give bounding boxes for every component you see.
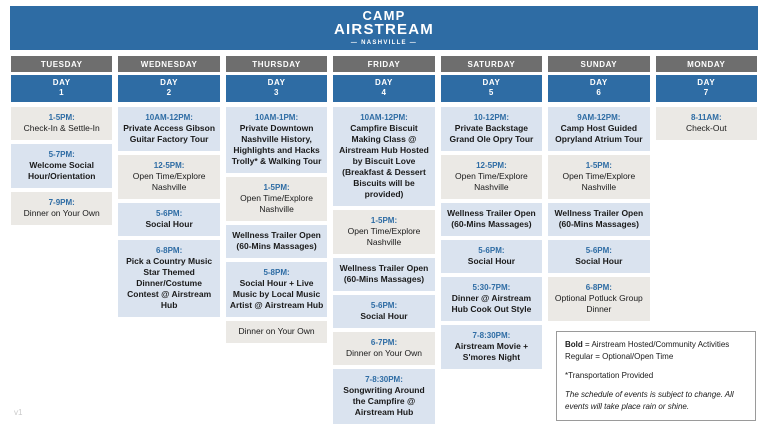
event-card[interactable]: 10AM-12PM:Private Access Gibson Guitar F…	[118, 107, 219, 151]
event-card[interactable]: 5-6PM:Social Hour	[441, 240, 542, 273]
logo-nashville-text: — NASHVILLE —	[351, 39, 417, 48]
event-description: Welcome Social Hour/Orientation	[14, 160, 109, 182]
event-description: Pick a Country Music Star Themed Dinner/…	[121, 256, 216, 311]
day-number-header: DAY3	[226, 75, 327, 102]
event-card[interactable]: 7-8:30PM:Airstream Movie + S'mores Night	[441, 325, 542, 369]
event-time: 1-5PM:	[229, 182, 324, 193]
event-time: 6-8PM:	[551, 282, 646, 293]
event-card[interactable]: 5-8PM:Social Hour + Live Music by Local …	[226, 262, 327, 317]
day-number-value: 2	[118, 88, 219, 98]
event-description: Songwriting Around the Campfire @ Airstr…	[336, 385, 431, 418]
event-description: Open Time/Explore Nashville	[551, 171, 646, 193]
day-number-header: DAY1	[11, 75, 112, 102]
day-name-header: SATURDAY	[441, 56, 542, 72]
logo-camp-text: CAMP	[362, 9, 405, 22]
event-card[interactable]: 5-6PM:Social Hour	[333, 295, 434, 328]
event-time: 8-11AM:	[659, 112, 754, 123]
event-description: Open Time/Explore Nashville	[336, 226, 431, 248]
event-card[interactable]: 12-5PM:Open Time/Explore Nashville	[118, 155, 219, 199]
event-description: Social Hour	[444, 256, 539, 267]
event-time: 7-9PM:	[14, 197, 109, 208]
day-word-label: DAY	[590, 78, 608, 87]
event-card[interactable]: 6-8PM:Pick a Country Music Star Themed D…	[118, 240, 219, 317]
day-number-header: DAY5	[441, 75, 542, 102]
event-time: 5-7PM:	[14, 149, 109, 160]
event-card[interactable]: 9AM-12PM:Camp Host Guided Opryland Atriu…	[548, 107, 649, 151]
day-number-header: DAY4	[333, 75, 434, 102]
event-description: Camp Host Guided Opryland Atrium Tour	[551, 123, 646, 145]
event-card[interactable]: 5-6PM:Social Hour	[118, 203, 219, 236]
day-number-header: DAY6	[548, 75, 649, 102]
day-word-label: DAY	[375, 78, 393, 87]
event-card[interactable]: 1-5PM:Check-In & Settle-In	[11, 107, 112, 140]
event-time: 5-8PM:	[229, 267, 324, 278]
event-time: 1-5PM:	[14, 112, 109, 123]
event-description: Open Time/Explore Nashville	[229, 193, 324, 215]
event-card[interactable]: 5:30-7PM:Dinner @ Airstream Hub Cook Out…	[441, 277, 542, 321]
event-description: Optional Potluck Group Dinner	[551, 293, 646, 315]
event-description: Social Hour + Live Music by Local Music …	[229, 278, 324, 311]
event-time: 5-6PM:	[551, 245, 646, 256]
legend-regular-desc: = Optional/Open Time	[593, 352, 673, 361]
event-card[interactable]: Dinner on Your Own	[226, 321, 327, 343]
legend-regular-word: Regular	[565, 352, 593, 361]
event-time: 5-6PM:	[336, 300, 431, 311]
day-number-value: 4	[333, 88, 434, 98]
event-card[interactable]: 10AM-1PM:Private Downtown Nashville Hist…	[226, 107, 327, 173]
event-time: 10AM-12PM:	[336, 112, 431, 123]
event-description: Check-In & Settle-In	[14, 123, 109, 134]
event-time: 1-5PM:	[336, 215, 431, 226]
day-column: WEDNESDAYDAY210AM-12PM:Private Access Gi…	[115, 56, 222, 428]
event-description: Open Time/Explore Nashville	[444, 171, 539, 193]
event-description: Campfire Biscuit Making Class @ Airstrea…	[336, 123, 431, 200]
day-word-label: DAY	[160, 78, 178, 87]
event-time: 5-6PM:	[121, 208, 216, 219]
legend-bold-word: Bold	[565, 340, 583, 349]
day-name-header: TUESDAY	[11, 56, 112, 72]
event-card[interactable]: 7-8:30PM:Songwriting Around the Campfire…	[333, 369, 434, 424]
version-watermark: v1	[14, 408, 22, 417]
day-number-value: 7	[656, 88, 757, 98]
day-word-label: DAY	[268, 78, 286, 87]
event-description: Social Hour	[336, 311, 431, 322]
day-number-value: 6	[548, 88, 649, 98]
event-card[interactable]: 6-7PM:Dinner on Your Own	[333, 332, 434, 365]
event-description: Open Time/Explore Nashville	[121, 171, 216, 193]
day-name-header: MONDAY	[656, 56, 757, 72]
legend-bold-row: Bold = Airstream Hosted/Community Activi…	[565, 339, 747, 351]
event-time: 10AM-12PM:	[121, 112, 216, 123]
event-time: 6-7PM:	[336, 337, 431, 348]
event-card[interactable]: 5-6PM:Social Hour	[548, 240, 649, 273]
schedule-page: CAMP AIRSTREAM — NASHVILLE — TUESDAYDAY1…	[0, 0, 768, 432]
event-card[interactable]: 10AM-12PM:Campfire Biscuit Making Class …	[333, 107, 434, 206]
legend-spacer-1	[565, 363, 747, 370]
event-time: 10-12PM:	[444, 112, 539, 123]
masthead-logo: CAMP AIRSTREAM — NASHVILLE —	[10, 6, 758, 50]
legend-box: Bold = Airstream Hosted/Community Activi…	[556, 331, 756, 421]
day-name-header: THURSDAY	[226, 56, 327, 72]
event-description: Check-Out	[659, 123, 754, 134]
legend-disclaimer: The schedule of events is subject to cha…	[565, 389, 747, 412]
day-number-value: 5	[441, 88, 542, 98]
event-description: Dinner on Your Own	[229, 326, 324, 337]
event-description: Private Downtown Nashville History, High…	[229, 123, 324, 167]
event-time: 12-5PM:	[444, 160, 539, 171]
day-number-header: DAY2	[118, 75, 219, 102]
logo-airstream-text: AIRSTREAM	[334, 22, 434, 38]
legend-bold-desc: = Airstream Hosted/Community Activities	[583, 340, 730, 349]
day-name-header: WEDNESDAY	[118, 56, 219, 72]
event-description: Wellness Trailer Open (60-Mins Massages)	[336, 263, 431, 285]
event-description: Dinner on Your Own	[14, 208, 109, 219]
event-description: Wellness Trailer Open (60-Mins Massages)	[444, 208, 539, 230]
day-name-header: FRIDAY	[333, 56, 434, 72]
day-column: TUESDAYDAY11-5PM:Check-In & Settle-In5-7…	[8, 56, 115, 428]
event-card[interactable]: 1-5PM:Open Time/Explore Nashville	[333, 210, 434, 254]
day-number-value: 1	[11, 88, 112, 98]
event-card[interactable]: 12-5PM:Open Time/Explore Nashville	[441, 155, 542, 199]
event-time: 7-8:30PM:	[336, 374, 431, 385]
event-card[interactable]: 1-5PM:Open Time/Explore Nashville	[548, 155, 649, 199]
event-card[interactable]: 1-5PM:Open Time/Explore Nashville	[226, 177, 327, 221]
event-card[interactable]: Wellness Trailer Open (60-Mins Massages)	[548, 203, 649, 236]
event-card[interactable]: 10-12PM:Private Backstage Grand Ole Opry…	[441, 107, 542, 151]
event-description: Private Backstage Grand Ole Opry Tour	[444, 123, 539, 145]
day-column: THURSDAYDAY310AM-1PM:Private Downtown Na…	[223, 56, 330, 428]
event-card[interactable]: Wellness Trailer Open (60-Mins Massages)	[333, 258, 434, 291]
event-description: Wellness Trailer Open (60-Mins Massages)	[229, 230, 324, 252]
legend-regular-row: Regular = Optional/Open Time	[565, 351, 747, 363]
event-description: Social Hour	[121, 219, 216, 230]
event-description: Airstream Movie + S'mores Night	[444, 341, 539, 363]
event-description: Social Hour	[551, 256, 646, 267]
event-card[interactable]: Wellness Trailer Open (60-Mins Massages)	[441, 203, 542, 236]
event-description: Dinner @ Airstream Hub Cook Out Style	[444, 293, 539, 315]
event-description: Dinner on Your Own	[336, 348, 431, 359]
day-word-label: DAY	[53, 78, 71, 87]
event-description: Wellness Trailer Open (60-Mins Massages)	[551, 208, 646, 230]
event-time: 1-5PM:	[551, 160, 646, 171]
event-time: 5:30-7PM:	[444, 282, 539, 293]
event-description: Private Access Gibson Guitar Factory Tou…	[121, 123, 216, 145]
day-number-header: DAY7	[656, 75, 757, 102]
day-word-label: DAY	[697, 78, 715, 87]
event-card[interactable]: 5-7PM:Welcome Social Hour/Orientation	[11, 144, 112, 188]
legend-spacer-2	[565, 382, 747, 389]
legend-transportation-note: *Transportation Provided	[565, 370, 747, 382]
event-time: 7-8:30PM:	[444, 330, 539, 341]
event-card[interactable]: 7-9PM:Dinner on Your Own	[11, 192, 112, 225]
event-time: 9AM-12PM:	[551, 112, 646, 123]
event-time: 10AM-1PM:	[229, 112, 324, 123]
event-time: 12-5PM:	[121, 160, 216, 171]
day-name-header: SUNDAY	[548, 56, 649, 72]
event-time: 6-8PM:	[121, 245, 216, 256]
event-time: 5-6PM:	[444, 245, 539, 256]
day-number-value: 3	[226, 88, 327, 98]
event-card[interactable]: 8-11AM:Check-Out	[656, 107, 757, 140]
day-column: SATURDAYDAY510-12PM:Private Backstage Gr…	[438, 56, 545, 428]
day-word-label: DAY	[482, 78, 500, 87]
event-card[interactable]: 6-8PM:Optional Potluck Group Dinner	[548, 277, 649, 321]
day-column: FRIDAYDAY410AM-12PM:Campfire Biscuit Mak…	[330, 56, 437, 428]
event-card[interactable]: Wellness Trailer Open (60-Mins Massages)	[226, 225, 327, 258]
